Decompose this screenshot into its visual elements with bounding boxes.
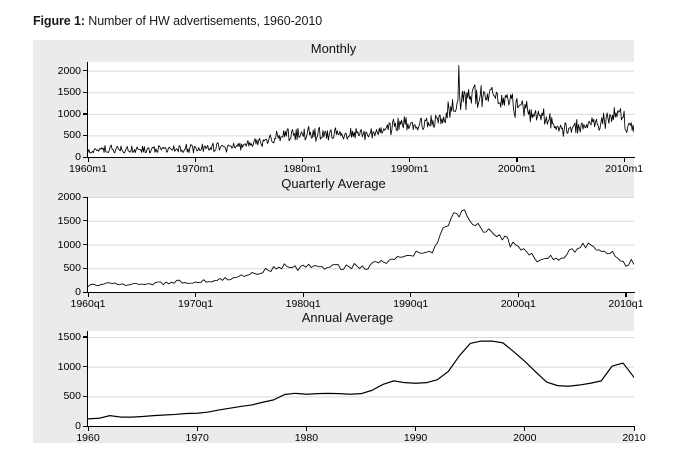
- x-tick-mark: [624, 158, 625, 162]
- y-tick-label: 0: [38, 151, 81, 163]
- panel-monthly-plot-area: [88, 62, 634, 157]
- y-tick-label: 1500: [38, 215, 81, 227]
- panel-quarterly: Quarterly Average 05001000150020001960q1…: [33, 175, 634, 309]
- figure-caption: Figure 1: Number of HW advertisements, 1…: [33, 14, 322, 28]
- panel-annual: Annual Average 0500100015001960197019801…: [33, 309, 634, 443]
- y-tick-mark: [83, 426, 87, 427]
- x-tick-mark: [625, 293, 626, 297]
- figure-root: Figure 1: Number of HW advertisements, 1…: [0, 0, 687, 471]
- x-axis-line: [87, 426, 635, 427]
- x-tick-label: 1960: [76, 432, 99, 444]
- x-tick-mark: [410, 293, 411, 297]
- y-tick-mark: [83, 220, 87, 221]
- y-axis-line: [87, 197, 88, 293]
- y-tick-label: 500: [38, 129, 81, 141]
- x-tick-mark: [306, 427, 307, 431]
- y-tick-label: 2000: [38, 191, 81, 203]
- y-tick-mark: [83, 366, 87, 367]
- panel-quarterly-title: Quarterly Average: [33, 176, 634, 191]
- x-tick-label: 1960m1: [69, 163, 107, 175]
- y-tick-mark: [83, 268, 87, 269]
- panel-annual-plot-area: [88, 331, 634, 426]
- y-tick-mark: [83, 336, 87, 337]
- x-tick-mark: [516, 158, 517, 162]
- y-tick-label: 1000: [38, 361, 81, 373]
- y-tick-label: 1000: [38, 108, 81, 120]
- figure-caption-lead: Figure 1:: [33, 14, 85, 28]
- x-tick-label: 1970m1: [176, 163, 214, 175]
- x-tick-label: 2010: [622, 432, 645, 444]
- y-tick-label: 2000: [38, 65, 81, 77]
- x-tick-label: 1990: [404, 432, 427, 444]
- x-tick-mark: [88, 293, 89, 297]
- y-axis-line: [87, 62, 88, 158]
- y-tick-mark: [83, 244, 87, 245]
- x-tick-label: 1980: [295, 432, 318, 444]
- x-tick-mark: [634, 427, 635, 431]
- panel-monthly: Monthly 05001000150020001960m11970m11980…: [33, 40, 634, 175]
- x-tick-label: 2010m1: [605, 163, 643, 175]
- y-tick-label: 1500: [38, 86, 81, 98]
- x-tick-label: 2000: [513, 432, 536, 444]
- y-tick-mark: [83, 292, 87, 293]
- x-tick-mark: [88, 158, 89, 162]
- x-tick-label: 1980m1: [283, 163, 321, 175]
- stata-graph-canvas: Monthly 05001000150020001960m11970m11980…: [33, 40, 634, 443]
- y-tick-label: 1000: [38, 239, 81, 251]
- x-tick-mark: [88, 427, 89, 431]
- x-tick-mark: [524, 427, 525, 431]
- x-tick-mark: [409, 158, 410, 162]
- y-tick-label: 500: [38, 262, 81, 274]
- x-tick-mark: [518, 293, 519, 297]
- y-axis-line: [87, 331, 88, 427]
- y-tick-mark: [83, 396, 87, 397]
- y-tick-mark: [83, 113, 87, 114]
- x-tick-mark: [195, 293, 196, 297]
- y-tick-mark: [83, 135, 87, 136]
- y-tick-mark: [83, 92, 87, 93]
- x-axis-line: [87, 157, 635, 158]
- y-tick-label: 0: [38, 420, 81, 432]
- y-tick-label: 0: [38, 286, 81, 298]
- y-tick-mark: [83, 197, 87, 198]
- panel-quarterly-plot-area: [88, 197, 634, 292]
- panel-annual-title: Annual Average: [33, 310, 634, 325]
- x-tick-mark: [415, 427, 416, 431]
- y-tick-mark: [83, 70, 87, 71]
- x-tick-label: 1990m1: [391, 163, 429, 175]
- panel-monthly-title: Monthly: [33, 41, 634, 56]
- x-tick-label: 2000m1: [498, 163, 536, 175]
- figure-caption-text: Number of HW advertisements, 1960-2010: [85, 14, 322, 28]
- x-tick-mark: [302, 158, 303, 162]
- y-tick-label: 500: [38, 390, 81, 402]
- y-tick-mark: [83, 157, 87, 158]
- x-tick-mark: [195, 158, 196, 162]
- y-tick-label: 1500: [38, 331, 81, 343]
- x-tick-label: 1970: [186, 432, 209, 444]
- x-tick-mark: [197, 427, 198, 431]
- x-tick-mark: [303, 293, 304, 297]
- x-axis-line: [87, 292, 635, 293]
